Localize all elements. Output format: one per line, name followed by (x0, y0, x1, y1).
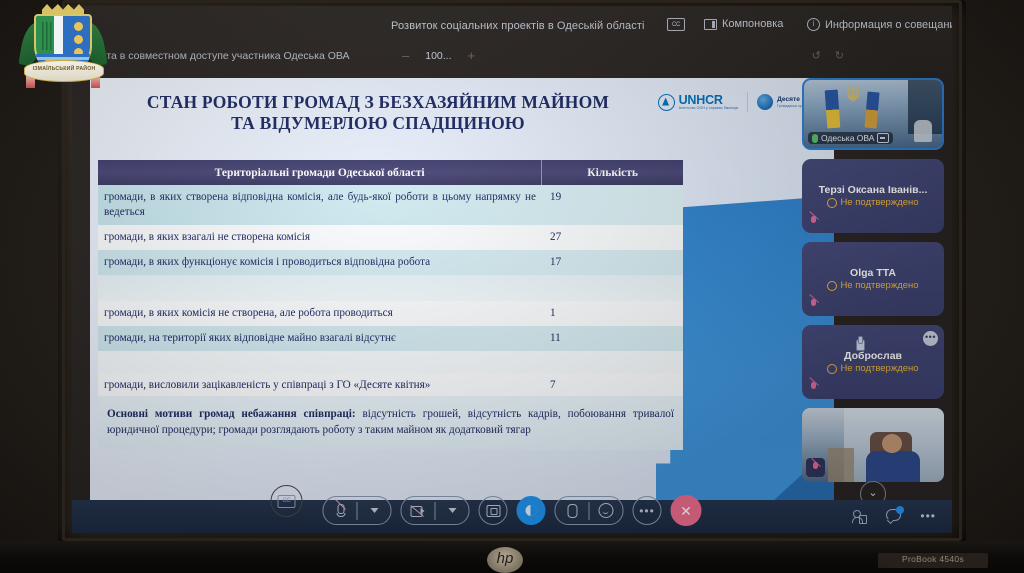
person-body (866, 451, 920, 482)
status-text: Не подтверждено (840, 280, 918, 291)
camera-control[interactable] (401, 496, 470, 525)
table-header-count: Кількість (542, 160, 683, 185)
zoom-level-label: 100... (425, 50, 451, 62)
zoom-control: – 100... + (402, 48, 475, 63)
slide-title-line-2: ТА ВІДУМЕРЛОЮ СПАДЩИНОЮ (128, 113, 628, 134)
reaction-icon (526, 505, 537, 516)
participant-tile-terzi[interactable]: Терзі Оксана Іванів... Не подтверждено (802, 159, 944, 233)
share-screen-icon (486, 505, 500, 517)
slide-title: СТАН РОБОТИ ГРОМАД З БЕЗХАЗЯЙНИМ МАЙНОМ … (128, 92, 628, 134)
shared-slide[interactable]: СТАН РОБОТИ ГРОМАД З БЕЗХАЗЯЙНИМ МАЙНОМ … (90, 78, 834, 500)
person-silhouette (914, 120, 932, 142)
microphone-control[interactable] (323, 496, 392, 525)
table-cell-count: 1 (542, 301, 683, 326)
emoji-reactions-button[interactable] (590, 497, 623, 524)
participant-rail[interactable]: Одеська ОВА Терзі Оксана Іванів... Не по… (802, 78, 944, 500)
participant-tile-video[interactable]: Одеська ОВА (802, 78, 944, 150)
table-header-communities: Територіальні громади Одеської області (98, 160, 542, 185)
unhcr-name: UNHCR (679, 94, 739, 106)
participant-name: Одеська ОВА (821, 133, 874, 143)
participant-more-button[interactable]: ••• (923, 331, 938, 346)
table-cell-count: 17 (542, 250, 683, 275)
coat-of-arms-sticker: ІЗМАЇЛЬСЬКИЙ РАЙОН (14, 0, 112, 90)
chevron-down-icon (448, 508, 456, 513)
unhcr-subtitle: Агентство ООН у справах біженців (679, 106, 739, 111)
shield-dot (74, 35, 83, 44)
status-text: Не подтверждено (840, 363, 918, 374)
camera-options-button[interactable] (436, 497, 469, 524)
meeting-title: Розвиток соціальних проектів в Одеській … (391, 20, 645, 32)
captions-toggle-button[interactable]: CC (271, 485, 303, 517)
chevron-down-icon (370, 508, 378, 513)
layout-icon (704, 19, 717, 30)
table-cell-count: 27 (542, 225, 683, 250)
participant-name: Olga TTA (850, 267, 896, 279)
reaction-button[interactable] (517, 496, 546, 525)
mic-muted-icon (806, 458, 825, 477)
camera-off-icon (411, 505, 426, 516)
meeting-info-button[interactable]: i Информация о совещании (807, 18, 952, 31)
closed-captions-icon: CC (667, 18, 685, 31)
unhcr-mark-icon (658, 94, 675, 111)
partner-mark-icon (757, 94, 773, 110)
table-header-row: Територіальні громади Одеської області К… (98, 160, 683, 185)
share-notice: тента в совместном доступе участника Оде… (90, 50, 350, 62)
primary-controls: CC (323, 495, 702, 526)
record-button[interactable] (556, 497, 589, 524)
ribbon-banner: ІЗМАЇЛЬСЬКИЙ РАЙОН (24, 60, 104, 82)
logo-divider (747, 92, 748, 112)
status-badge: Не подтверждено (827, 363, 918, 374)
hp-logo (487, 547, 523, 573)
mic-options-button[interactable] (358, 497, 391, 524)
table-row: громади, в яких створена відповідна комі… (98, 185, 683, 225)
mic-muted-icon (336, 504, 345, 517)
status-badge: Не подтверждено (827, 280, 918, 291)
mic-muted-icon (809, 299, 818, 310)
mic-muted-icon (809, 382, 818, 393)
office-cabinet (828, 448, 854, 482)
info-icon: i (807, 18, 820, 31)
pin-icon[interactable] (877, 133, 889, 143)
table-row: громади, в яких комісія не створена, але… (98, 301, 683, 326)
table-row: громади, в яких взагалі не створена комі… (98, 225, 683, 250)
emblem-icon (846, 86, 860, 102)
clock-icon (827, 364, 837, 374)
chat-icon[interactable] (886, 509, 901, 523)
app-top-row-secondary: тента в совместном доступе участника Оде… (72, 50, 952, 72)
table-cell-label: громади, висловили зацікавленість у спів… (98, 373, 542, 398)
flag-icon (825, 90, 841, 129)
view-rotate-controls: ↺ ↻ (812, 49, 844, 62)
zoom-in-button[interactable]: + (468, 48, 476, 63)
table-cell-count: 7 (542, 373, 683, 398)
status-badge: Не подтверждено (827, 197, 918, 208)
rotate-left-icon[interactable]: ↺ (812, 49, 821, 62)
status-text: Не подтверждено (840, 197, 918, 208)
reed-icon (42, 22, 52, 50)
mouse-cursor-icon (854, 336, 865, 350)
table-spacer (98, 351, 683, 373)
ellipsis-icon: ••• (639, 507, 655, 515)
meeting-control-bar: CC (72, 500, 952, 533)
mic-toggle-button[interactable] (324, 497, 357, 524)
slide-title-line-1: СТАН РОБОТИ ГРОМАД З БЕЗХАЗЯЙНИМ МАЙНОМ (128, 92, 628, 113)
share-screen-button[interactable] (479, 496, 508, 525)
clock-icon (827, 198, 837, 208)
table-cell-label: громади, в яких функціонує комісія і про… (98, 250, 542, 275)
photo-of-laptop-screen: Розвиток соціальних проектів в Одеській … (0, 0, 1024, 573)
zoom-out-button[interactable]: – (402, 48, 409, 63)
communities-table: Територіальні громади Одеської області К… (98, 160, 683, 398)
mic-muted-icon (809, 216, 818, 227)
participant-tile-olga[interactable]: Olga TTA Не подтверждено (802, 242, 944, 316)
table-row: громади, на території яких відповідне ма… (98, 326, 683, 351)
shield-dot (74, 22, 83, 31)
participant-name-chip: Одеська ОВА (808, 132, 893, 144)
slide-summary: Основні мотиви громад небажання співпрац… (98, 396, 683, 450)
more-options-button[interactable]: ••• (633, 496, 662, 525)
flag-icon (864, 92, 879, 129)
table-cell-count: 19 (542, 185, 683, 225)
record-icon (567, 504, 577, 518)
captions-button[interactable]: CC (667, 18, 685, 31)
overflow-icon[interactable]: ••• (920, 512, 936, 520)
rotate-right-icon[interactable]: ↻ (835, 49, 844, 62)
table-spacer (98, 275, 683, 301)
table-cell-label: громади, в яких взагалі не створена комі… (98, 225, 542, 250)
mic-on-icon (812, 134, 818, 143)
closed-captions-icon: CC (278, 495, 296, 508)
record-reactions-control[interactable] (555, 496, 624, 525)
participant-name: Терзі Оксана Іванів... (819, 184, 928, 196)
model-plate: ProBook 4540s (878, 553, 988, 568)
app-top-bar: Розвиток соціальних проектів в Одеській … (72, 6, 952, 78)
model-label: ProBook 4540s (878, 554, 988, 564)
table-row: громади, висловили зацікавленість у спів… (98, 373, 683, 398)
camera-toggle-button[interactable] (402, 497, 435, 524)
participant-tile-dobroslav[interactable]: ••• Доброслав Не подтверждено (802, 325, 944, 399)
summary-heading: Основні мотиви громад небажання співпрац… (107, 408, 356, 420)
laptop-screen: Розвиток соціальних проектів в Одеській … (72, 6, 952, 533)
hangup-button[interactable]: ✕ (671, 495, 702, 526)
chat-notification-badge (896, 506, 904, 514)
app-top-row-primary: Розвиток соціальних проектів в Одеській … (72, 20, 952, 42)
smiley-icon (599, 503, 614, 518)
table-cell-label: громади, в яких створена відповідна комі… (98, 185, 542, 225)
table-cell-label: громади, в яких комісія не створена, але… (98, 301, 542, 326)
table-row: громади, в яких функціонує комісія і про… (98, 250, 683, 275)
participant-name: Доброслав (844, 350, 902, 362)
slide-logos: UNHCR Агентство ООН у справах біженців Д… (658, 92, 822, 112)
layout-button[interactable]: Компоновка (704, 18, 783, 30)
table-cell-count: 11 (542, 326, 683, 351)
secondary-controls: ••• (852, 509, 936, 523)
meeting-info-label: Информация о совещании (825, 19, 952, 31)
unhcr-logo: UNHCR Агентство ООН у справах біженців (658, 94, 739, 111)
table-cell-label: громади, на території яких відповідне ма… (98, 326, 542, 351)
person-head (882, 434, 902, 453)
clock-icon (827, 281, 837, 291)
layout-button-label: Компоновка (722, 18, 783, 30)
participant-tile-video-office[interactable] (802, 408, 944, 482)
ribbon-text: ІЗМАЇЛЬСЬКИЙ РАЙОН (25, 66, 103, 72)
participants-icon[interactable] (852, 510, 867, 523)
